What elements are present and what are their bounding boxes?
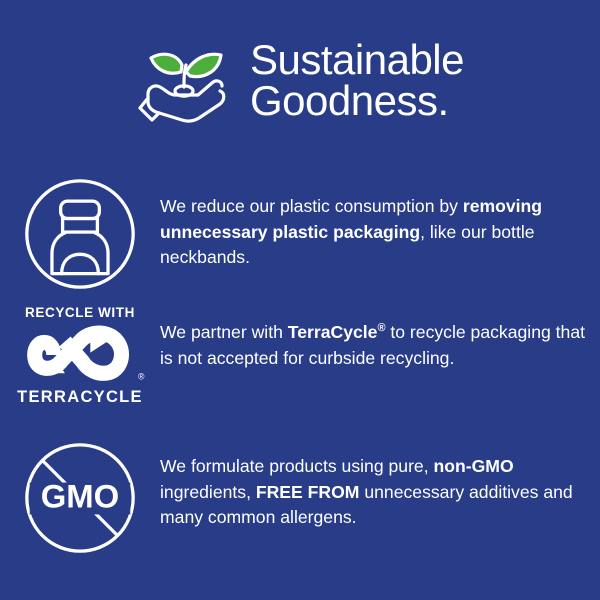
gmo-label: GMO — [41, 478, 120, 515]
text-part-bold: FREE FROM — [256, 482, 360, 502]
terracycle-top-label: RECYCLE WITH — [25, 306, 135, 320]
page-title: Sustainable Goodness. — [250, 39, 464, 125]
feature-row-gmo: GMO We formulate products using pure, no… — [0, 440, 600, 556]
text-part: We reduce our plastic consumption by — [160, 196, 463, 216]
title-line-2: Goodness. — [250, 80, 464, 121]
text-part: We formulate products using pure, — [160, 456, 434, 476]
terracycle-bottom-label: TERRACYCLE — [17, 389, 143, 406]
terracycle-logo: RECYCLE WITH ® TERRACYCLE — [10, 306, 150, 405]
brand-name: TerraCycle — [288, 322, 378, 342]
text-part-bold: TerraCycle® — [288, 322, 386, 342]
sustainability-infographic: Sustainable Goodness. We reduce our plas… — [0, 0, 600, 600]
header: Sustainable Goodness. — [0, 22, 600, 142]
feature-text-gmo: We formulate products using pure, non-GM… — [160, 440, 600, 531]
svg-text:®: ® — [138, 371, 145, 381]
feature-text-plastic: We reduce our plastic consumption by rem… — [160, 176, 600, 271]
feature-row-plastic: We reduce our plastic consumption by rem… — [0, 176, 600, 292]
feature-icon-container: RECYCLE WITH ® TERRACYCLE — [0, 306, 160, 405]
plastic-bottle-neckband-icon — [22, 176, 138, 292]
feature-icon-container — [0, 176, 160, 292]
no-gmo-icon: GMO — [22, 440, 138, 556]
text-part-bold: non-GMO — [434, 456, 514, 476]
feature-text-terracycle: We partner with TerraCycle® to recycle p… — [160, 306, 600, 371]
feature-row-terracycle: RECYCLE WITH ® TERRACYCLE We partner wit… — [0, 306, 600, 405]
title-line-1: Sustainable — [250, 39, 464, 80]
feature-icon-container: GMO — [0, 440, 160, 556]
text-part: We partner with — [160, 322, 288, 342]
hand-holding-plant-icon — [136, 32, 236, 132]
text-part: ingredients, — [160, 482, 256, 502]
infinity-recycle-arrows-icon: ® — [12, 324, 148, 386]
